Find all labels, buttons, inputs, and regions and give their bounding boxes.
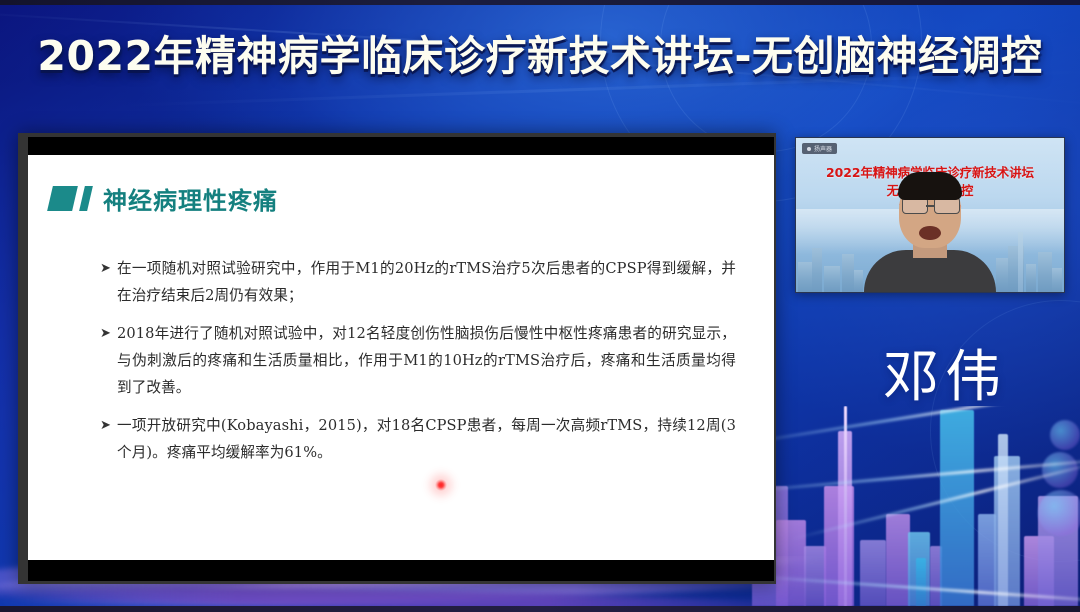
video-skyline-building <box>996 258 1008 292</box>
bullet-text: 在一项随机对照试验研究中，作用于M1的20Hz的rTMS治疗5次后患者的CPSP… <box>117 255 736 309</box>
video-skyline-building <box>1026 264 1036 292</box>
video-skyline-building <box>842 254 854 292</box>
video-skyline-building <box>824 266 840 292</box>
list-item: ➤ 一项开放研究中(Kobayashi，2015)，对18名CPSP患者，每周一… <box>100 412 736 466</box>
bullet-arrow-icon: ➤ <box>100 255 117 282</box>
video-skyline-building <box>854 270 863 292</box>
page-title: 2022年精神病学临床诊疗新技术讲坛-无创脑神经调控 <box>0 22 1080 82</box>
slide-content-area: 神经病理性疼痛 ➤ 在一项随机对照试验研究中，作用于M1的20Hz的rTMS治疗… <box>28 155 774 560</box>
presenter-figure <box>864 186 996 292</box>
video-skyline-building <box>798 262 812 292</box>
video-skyline-building <box>1052 268 1062 292</box>
accent-parallelogram-small-icon <box>79 186 93 211</box>
presenter-hair <box>898 172 962 200</box>
video-skyline-building <box>1038 252 1052 292</box>
list-item: ➤ 2018年进行了随机对照试验中，对12名轻度创伤性脑损伤后慢性中枢性疼痛患者… <box>100 320 736 401</box>
video-speaker-badge[interactable]: 扬声器 <box>802 143 837 154</box>
bullet-arrow-icon: ➤ <box>100 320 117 347</box>
presenter-name: 邓伟 <box>845 332 1045 413</box>
accent-parallelogram-large-icon <box>47 186 78 211</box>
bullet-text: 一项开放研究中(Kobayashi，2015)，对18名CPSP患者，每周一次高… <box>117 412 736 466</box>
top-edge-strip <box>0 0 1080 5</box>
slide-bullet-list: ➤ 在一项随机对照试验研究中，作用于M1的20Hz的rTMS治疗5次后患者的CP… <box>100 255 736 477</box>
video-skyline-building <box>812 248 822 292</box>
bullet-text: 2018年进行了随机对照试验中，对12名轻度创伤性脑损伤后慢性中枢性疼痛患者的研… <box>117 320 736 401</box>
slide-title-row: 神经病理性疼痛 <box>50 181 278 216</box>
glasses-bridge-icon <box>926 205 934 207</box>
speaker-icon <box>807 147 811 151</box>
slide-letterbox: 神经病理性疼痛 ➤ 在一项随机对照试验研究中，作用于M1的20Hz的rTMS治疗… <box>28 137 774 581</box>
laser-pointer-dot <box>435 479 447 491</box>
presentation-stage: 2022年精神病学临床诊疗新技术讲坛-无创脑神经调控 神经病理性疼痛 ➤ 在一项… <box>0 0 1080 612</box>
presenter-video-panel[interactable]: 2022年精神病学临床诊疗新技术讲坛 无创脑神经调控 2022年 20:00 扬… <box>795 137 1065 293</box>
presenter-mouth <box>919 226 941 240</box>
slide-frame: 神经病理性疼痛 ➤ 在一项随机对照试验研究中，作用于M1的20Hz的rTMS治疗… <box>18 133 776 584</box>
list-item: ➤ 在一项随机对照试验研究中，作用于M1的20Hz的rTMS治疗5次后患者的CP… <box>100 255 736 309</box>
slide-title: 神经病理性疼痛 <box>103 181 278 216</box>
video-badge-label: 扬声器 <box>814 144 832 153</box>
bottom-edge-strip <box>0 606 1080 612</box>
video-skyline-tower <box>1018 232 1023 292</box>
bullet-arrow-icon: ➤ <box>100 412 117 439</box>
